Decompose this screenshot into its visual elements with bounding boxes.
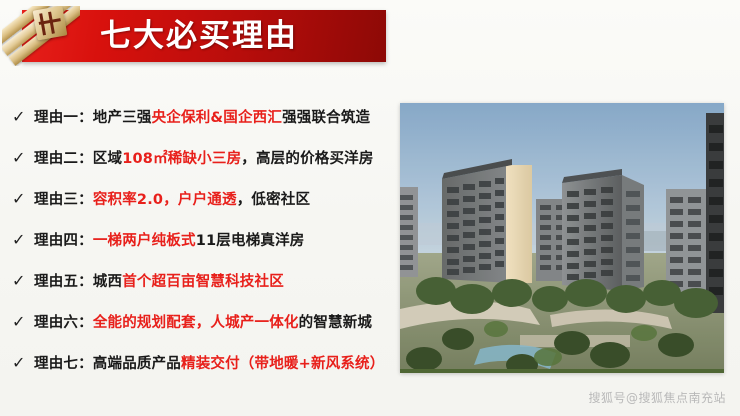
- reason-text: 理由四：一梯两户纯板式11层电梯真洋房: [34, 229, 305, 250]
- reason-segment-highlight: 容积率2.0，户户通透: [93, 192, 237, 208]
- reason-segment: 理由五：城西: [34, 274, 122, 290]
- residential-complex-rendering: [400, 103, 724, 373]
- rendering-artwork: [400, 103, 724, 373]
- list-item: ✓ 理由七：高端品质产品精装交付（带地暖+新风系统）: [0, 342, 430, 383]
- page-title: 七大必买理由: [100, 14, 298, 58]
- list-item: ✓ 理由二：区域108㎡稀缺小三房，高层的价格买洋房: [0, 137, 430, 178]
- reason-list: ✓ 理由一：地产三强央企保利&国企西汇强强联合筑造 ✓ 理由二：区域108㎡稀缺…: [0, 96, 430, 383]
- list-item: ✓ 理由一：地产三强央企保利&国企西汇强强联合筑造: [0, 96, 430, 137]
- list-item: ✓ 理由三：容积率2.0，户户通透，低密社区: [0, 178, 430, 219]
- reason-segment: 11层电梯真洋房: [196, 233, 305, 249]
- reason-segment: 强强联合筑造: [282, 110, 370, 126]
- check-icon: ✓: [12, 273, 34, 289]
- reason-segment-highlight: 央企保利&国企西汇: [152, 110, 282, 126]
- list-item: ✓ 理由五：城西首个超百亩智慧科技社区: [0, 260, 430, 301]
- reason-text: 理由七：高端品质产品精装交付（带地暖+新风系统）: [34, 352, 384, 373]
- reason-segment-highlight: 108㎡稀缺小三房: [122, 151, 241, 167]
- source-watermark: 搜狐号@搜狐焦点南充站: [588, 389, 726, 406]
- gold-scroll-ornament-icon: [2, 6, 80, 66]
- reason-segment: 的智慧新城: [299, 315, 373, 331]
- reason-segment-highlight: 全能的规划配套，人城产一体化: [93, 315, 299, 331]
- reason-segment: 理由二：区域: [34, 151, 122, 167]
- check-icon: ✓: [12, 355, 34, 371]
- reason-text: 理由五：城西首个超百亩智慧科技社区: [34, 270, 284, 291]
- slide-canvas: 七大必买理由 ✓ 理由一：地产三强央企保利&国企西汇强强联合筑造 ✓ 理由二：区…: [0, 0, 740, 416]
- check-icon: ✓: [12, 109, 34, 125]
- reason-text: 理由一：地产三强央企保利&国企西汇强强联合筑造: [34, 106, 370, 127]
- reason-segment: ，低密社区: [237, 192, 311, 208]
- reason-text: 理由三：容积率2.0，户户通透，低密社区: [34, 188, 310, 209]
- list-item: ✓ 理由六：全能的规划配套，人城产一体化的智慧新城: [0, 301, 430, 342]
- title-banner: 七大必买理由: [0, 6, 392, 66]
- reason-segment: 理由七：高端品质产品: [34, 356, 181, 372]
- reason-segment: 理由一：地产三强: [34, 110, 152, 126]
- reason-segment: ，高层的价格买洋房: [241, 151, 373, 167]
- check-icon: ✓: [12, 314, 34, 330]
- reason-segment: 理由六：: [34, 315, 93, 331]
- reason-segment: 理由四：: [34, 233, 93, 249]
- reason-text: 理由二：区域108㎡稀缺小三房，高层的价格买洋房: [34, 147, 374, 168]
- list-item: ✓ 理由四：一梯两户纯板式11层电梯真洋房: [0, 219, 430, 260]
- check-icon: ✓: [12, 232, 34, 248]
- reason-text: 理由六：全能的规划配套，人城产一体化的智慧新城: [34, 311, 372, 332]
- reason-segment-highlight: 一梯两户纯板式: [93, 233, 196, 249]
- reason-segment-highlight: 精装交付（带地暖+新风系统）: [181, 356, 384, 372]
- reason-segment-highlight: 首个超百亩智慧科技社区: [122, 274, 284, 290]
- reason-segment: 理由三：: [34, 192, 93, 208]
- check-icon: ✓: [12, 191, 34, 207]
- check-icon: ✓: [12, 150, 34, 166]
